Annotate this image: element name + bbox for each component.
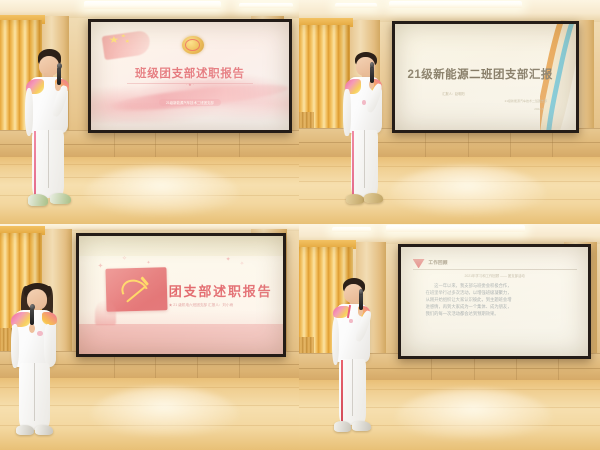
- hand: [29, 324, 35, 333]
- ceiling-light: [239, 3, 293, 8]
- slide-subheader: 2021年学习和工作回顾 —— 团支部活动: [401, 273, 588, 278]
- photo-collage: 班级团支部述职报告 · ★ · 21级新能源汽车技术二班团支部: [0, 0, 600, 450]
- presenter-figure: [338, 52, 395, 209]
- panel-top-right: 21级新能源二班团支部汇报 汇报人：赵明阳 21级新能源汽车技术二班团支部 20…: [299, 0, 600, 224]
- tile-seam: [155, 130, 156, 159]
- shoe: [334, 421, 351, 431]
- slide-body: 这一年以来，我支部与班委会积极合作， 在班里举行过多次活动，以增强班级凝聚力， …: [426, 283, 568, 318]
- legs-trousers: [351, 130, 378, 197]
- slide-meta: ★ 21 级机电六班团支部 汇报人：刘小雨: [169, 303, 234, 308]
- shoe: [16, 425, 34, 435]
- microphone: [30, 308, 34, 325]
- shoe: [364, 193, 383, 203]
- dove-icon: ✦: [226, 256, 231, 263]
- arm-left: [343, 89, 350, 136]
- slide-content: 工作回顾 2021年学习和工作回顾 —— 团支部活动 这一年以来，我支部与班委会…: [401, 247, 588, 355]
- slide-header: 工作回顾: [428, 260, 447, 266]
- lanyard: [347, 305, 351, 318]
- body-line: 在班里举行过多次活动，以增强班级凝聚力，: [426, 290, 568, 297]
- shoe: [352, 421, 370, 431]
- badge: [362, 100, 367, 105]
- slide-top-band: [79, 236, 282, 256]
- chevron-marker-icon: [413, 259, 425, 269]
- ceiling-light: [335, 3, 377, 7]
- legs-trousers: [19, 363, 50, 429]
- slide-content: 21级新能源二班团支部汇报 汇报人：赵明阳 21级新能源汽车技术二班团支部 20…: [395, 24, 576, 129]
- slide-bottom-band: [79, 324, 282, 353]
- badge: [37, 331, 42, 336]
- branch-graphic: [95, 300, 115, 326]
- slide-subtitle-wrap: 21级新能源汽车技术二班团支部: [91, 91, 288, 109]
- slide-subtitle-date: 2022.6: [534, 107, 543, 111]
- hammer-sickle-icon: [119, 277, 154, 302]
- ceiling-light: [386, 225, 524, 232]
- shoe: [28, 194, 48, 205]
- slide-title: 团支部述职报告: [169, 281, 281, 300]
- slide-title: 班级团支部述职报告: [91, 65, 288, 81]
- projector-screen: ✦ ✧ ✦ ✦ ✧ 团支部述职报告 ★ 21 级机电六班团支部: [76, 233, 285, 357]
- arm-left: [25, 88, 34, 136]
- microphone: [359, 292, 362, 309]
- trouser-stripe: [352, 131, 354, 194]
- tile-seam: [239, 130, 240, 159]
- shoe: [346, 194, 364, 204]
- arm-right: [44, 324, 53, 365]
- slide-title: 21级新能源二班团支部汇报: [403, 66, 558, 82]
- ceiling-light: [84, 1, 222, 9]
- trouser-stripe: [34, 131, 36, 195]
- title-dots: · ★ ·: [91, 82, 288, 87]
- tile-seam: [197, 130, 198, 159]
- arm-left: [332, 318, 339, 365]
- shoe: [50, 193, 71, 204]
- body-line: 进感情，再到大家成为一个集体、成为朋友，: [426, 304, 568, 311]
- jacket-color-panel: [42, 312, 57, 325]
- slide-subtitle-org: 21级新能源汽车技术二班团支部: [505, 99, 547, 103]
- microphone: [370, 66, 373, 83]
- legs-trousers: [32, 130, 64, 198]
- panel-bottom-right: 工作回顾 2021年学习和工作回顾 —— 团支部活动 这一年以来，我支部与班委会…: [299, 224, 600, 450]
- dove-icon: ✦: [98, 262, 104, 270]
- tile-seam: [114, 130, 115, 159]
- panel-bottom-left: ✦ ✧ ✦ ✦ ✧ 团支部述职报告 ★ 21 级机电六班团支部: [0, 224, 299, 450]
- body-line: 我们的每一次活动都会达到预期效果。: [426, 311, 568, 318]
- projector-screen: 工作回顾 2021年学习和工作回顾 —— 团支部活动 这一年以来，我支部与班委会…: [398, 244, 591, 358]
- youth-league-emblem-icon: [182, 36, 204, 54]
- slide-content: 班级团支部述职报告 · ★ · 21级新能源汽车技术二班团支部: [91, 22, 288, 130]
- dove-icon: ✦: [146, 260, 150, 266]
- ceiling-light: [389, 1, 521, 8]
- dove-icon: ✧: [240, 261, 244, 267]
- badge: [349, 319, 353, 324]
- body-line: 从刚开始组织让大家认识彼此，到主题班会增: [426, 297, 568, 304]
- presenter-figure: [6, 283, 69, 441]
- slide-subtitle-presenter: 汇报人：赵明阳: [442, 91, 464, 96]
- slide-content: ✦ ✧ ✦ ✦ ✧ 团支部述职报告 ★ 21 级机电六班团支部: [79, 236, 282, 354]
- legs-trousers: [339, 359, 365, 425]
- header-divider: [413, 269, 577, 270]
- microphone: [57, 67, 61, 85]
- shoe: [35, 425, 53, 435]
- ceiling-light: [332, 227, 371, 232]
- arm-left: [11, 324, 19, 368]
- dove-icon: ✧: [122, 255, 127, 262]
- projector-screen: 班级团支部述职报告 · ★ · 21级新能源汽车技术二班团支部: [88, 19, 291, 133]
- slide-subtitle: 21级新能源汽车技术二班团支部: [159, 99, 221, 106]
- presenter-figure: [18, 49, 84, 210]
- flag-graphic: [102, 30, 152, 60]
- projector-screen: 21级新能源二班团支部汇报 汇报人：赵明阳 21级新能源汽车技术二班团支部 20…: [392, 21, 579, 132]
- trouser-stripe: [341, 360, 343, 422]
- presenter-figure: [326, 278, 383, 436]
- panel-top-left: 班级团支部述职报告 · ★ · 21级新能源汽车技术二班团支部: [0, 0, 299, 224]
